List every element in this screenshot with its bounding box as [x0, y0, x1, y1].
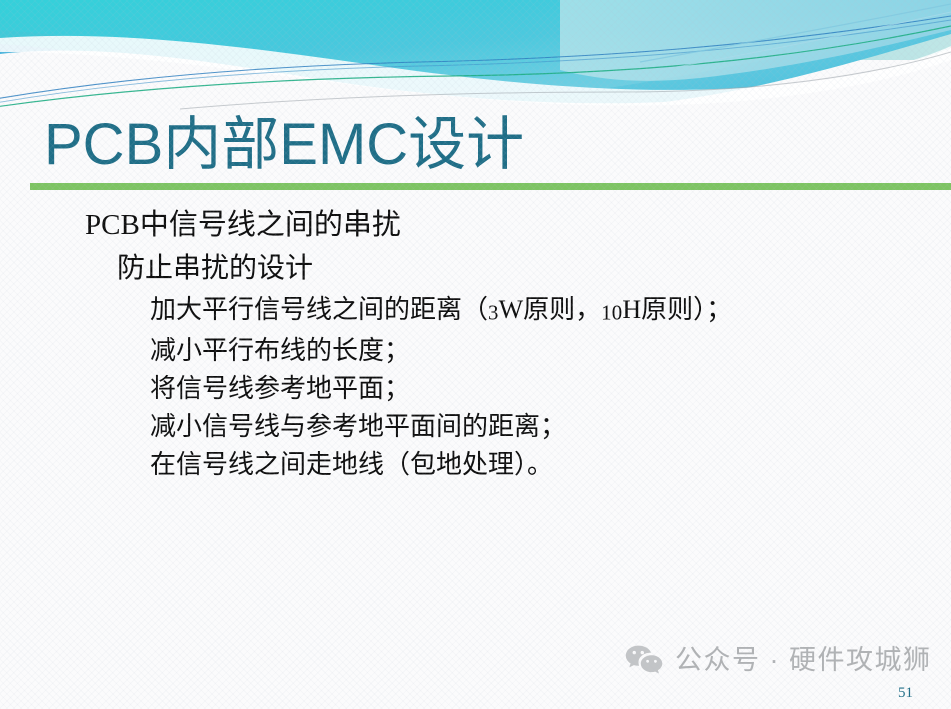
body-line-heading: PCB中信号线之间的串扰	[85, 203, 951, 247]
presentation-slide: PCB内部EMC设计 PCB中信号线之间的串扰 防止串扰的设计 加大平行信号线之…	[0, 0, 951, 709]
body-line-item-1: 加大平行信号线之间的距离（3W原则，10H原则）；	[150, 291, 951, 332]
decorative-wave-banner	[0, 0, 951, 115]
slide-title: PCB内部EMC设计	[44, 112, 524, 178]
item-1-mid-2: H原则）；	[622, 295, 732, 324]
body-line-subheading: 防止串扰的设计	[117, 247, 951, 291]
item-1-num-3w: 3	[488, 301, 499, 324]
footer-account-label: 公众号 · 硬件攻城狮	[675, 644, 932, 676]
body-line-item-5: 在信号线之间走地线（包地处理）。	[150, 446, 951, 484]
slide-body: PCB中信号线之间的串扰 防止串扰的设计 加大平行信号线之间的距离（3W原则，1…	[0, 203, 951, 484]
title-underline-rule	[30, 183, 951, 190]
item-1-pre: 加大平行信号线之间的距离（	[150, 295, 488, 324]
item-1-mid-1: W原则，	[499, 295, 602, 324]
body-line-item-3: 将信号线参考地平面；	[150, 370, 951, 408]
wechat-icon	[625, 645, 663, 675]
item-1-num-10h: 10	[601, 301, 622, 324]
body-line-item-2: 减小平行布线的长度；	[150, 332, 951, 370]
slide-number: 51	[898, 684, 913, 702]
body-line-item-4: 减小信号线与参考地平面间的距离；	[150, 408, 951, 446]
footer-watermark: 公众号 · 硬件攻城狮	[625, 644, 932, 676]
